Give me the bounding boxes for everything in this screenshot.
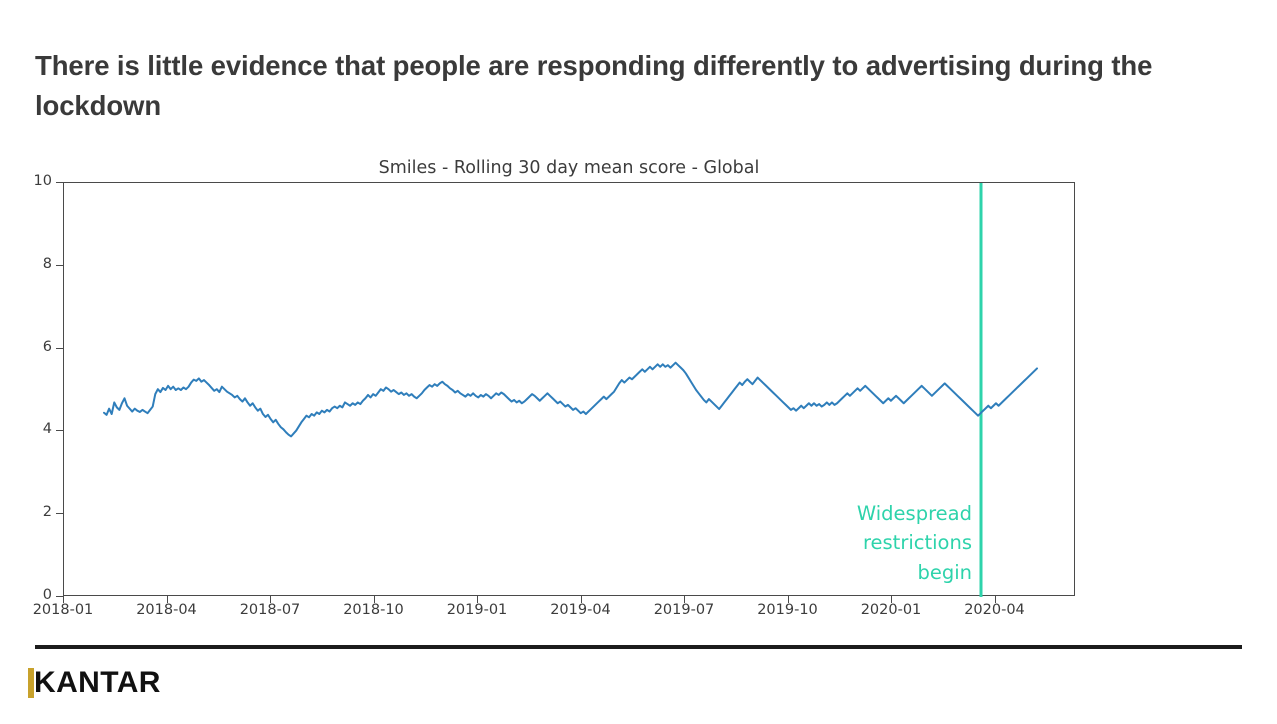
y-tick-mark	[56, 348, 63, 349]
x-tick-mark	[63, 596, 64, 603]
lockdown-annotation: Widespread restrictions begin	[800, 499, 972, 588]
x-tick-mark	[270, 596, 271, 603]
x-tick-mark	[891, 596, 892, 603]
y-tick-label: 4	[8, 421, 52, 437]
kantar-logo: KANTAR	[28, 666, 161, 700]
logo-rest: ANTAR	[56, 666, 161, 699]
y-tick-mark	[56, 513, 63, 514]
y-tick-mark	[56, 430, 63, 431]
x-tick-mark	[374, 596, 375, 603]
x-tick-label: 2018-07	[210, 602, 330, 618]
x-tick-label: 2019-10	[728, 602, 848, 618]
x-tick-label: 2019-04	[521, 602, 641, 618]
x-tick-label: 2020-04	[935, 602, 1055, 618]
y-tick-mark	[56, 265, 63, 266]
x-tick-mark	[477, 596, 478, 603]
y-tick-label: 2	[8, 504, 52, 520]
x-tick-label: 2018-01	[3, 602, 123, 618]
y-tick-label: 6	[8, 339, 52, 355]
x-tick-mark	[684, 596, 685, 603]
y-tick-mark	[56, 596, 63, 597]
y-tick-mark	[56, 182, 63, 183]
y-tick-label: 10	[8, 173, 52, 189]
smiles-series-line	[104, 363, 1037, 437]
x-tick-mark	[788, 596, 789, 603]
x-tick-label: 2020-01	[831, 602, 951, 618]
x-tick-mark	[995, 596, 996, 603]
chart-figure: Smiles - Rolling 30 day mean score - Glo…	[0, 150, 1120, 620]
logo-initial: K	[34, 666, 56, 699]
x-tick-mark	[167, 596, 168, 603]
page-title: There is little evidence that people are…	[35, 46, 1215, 125]
chart-title: Smiles - Rolling 30 day mean score - Glo…	[63, 158, 1075, 178]
footer-divider	[35, 645, 1242, 649]
x-tick-label: 2018-04	[107, 602, 227, 618]
x-tick-mark	[581, 596, 582, 603]
x-tick-label: 2018-10	[314, 602, 434, 618]
x-tick-label: 2019-01	[417, 602, 537, 618]
slide-root: There is little evidence that people are…	[0, 0, 1277, 724]
y-tick-label: 0	[8, 587, 52, 603]
logo-wordmark: KANTAR	[34, 668, 161, 698]
x-tick-label: 2019-07	[624, 602, 744, 618]
y-tick-label: 8	[8, 256, 52, 272]
